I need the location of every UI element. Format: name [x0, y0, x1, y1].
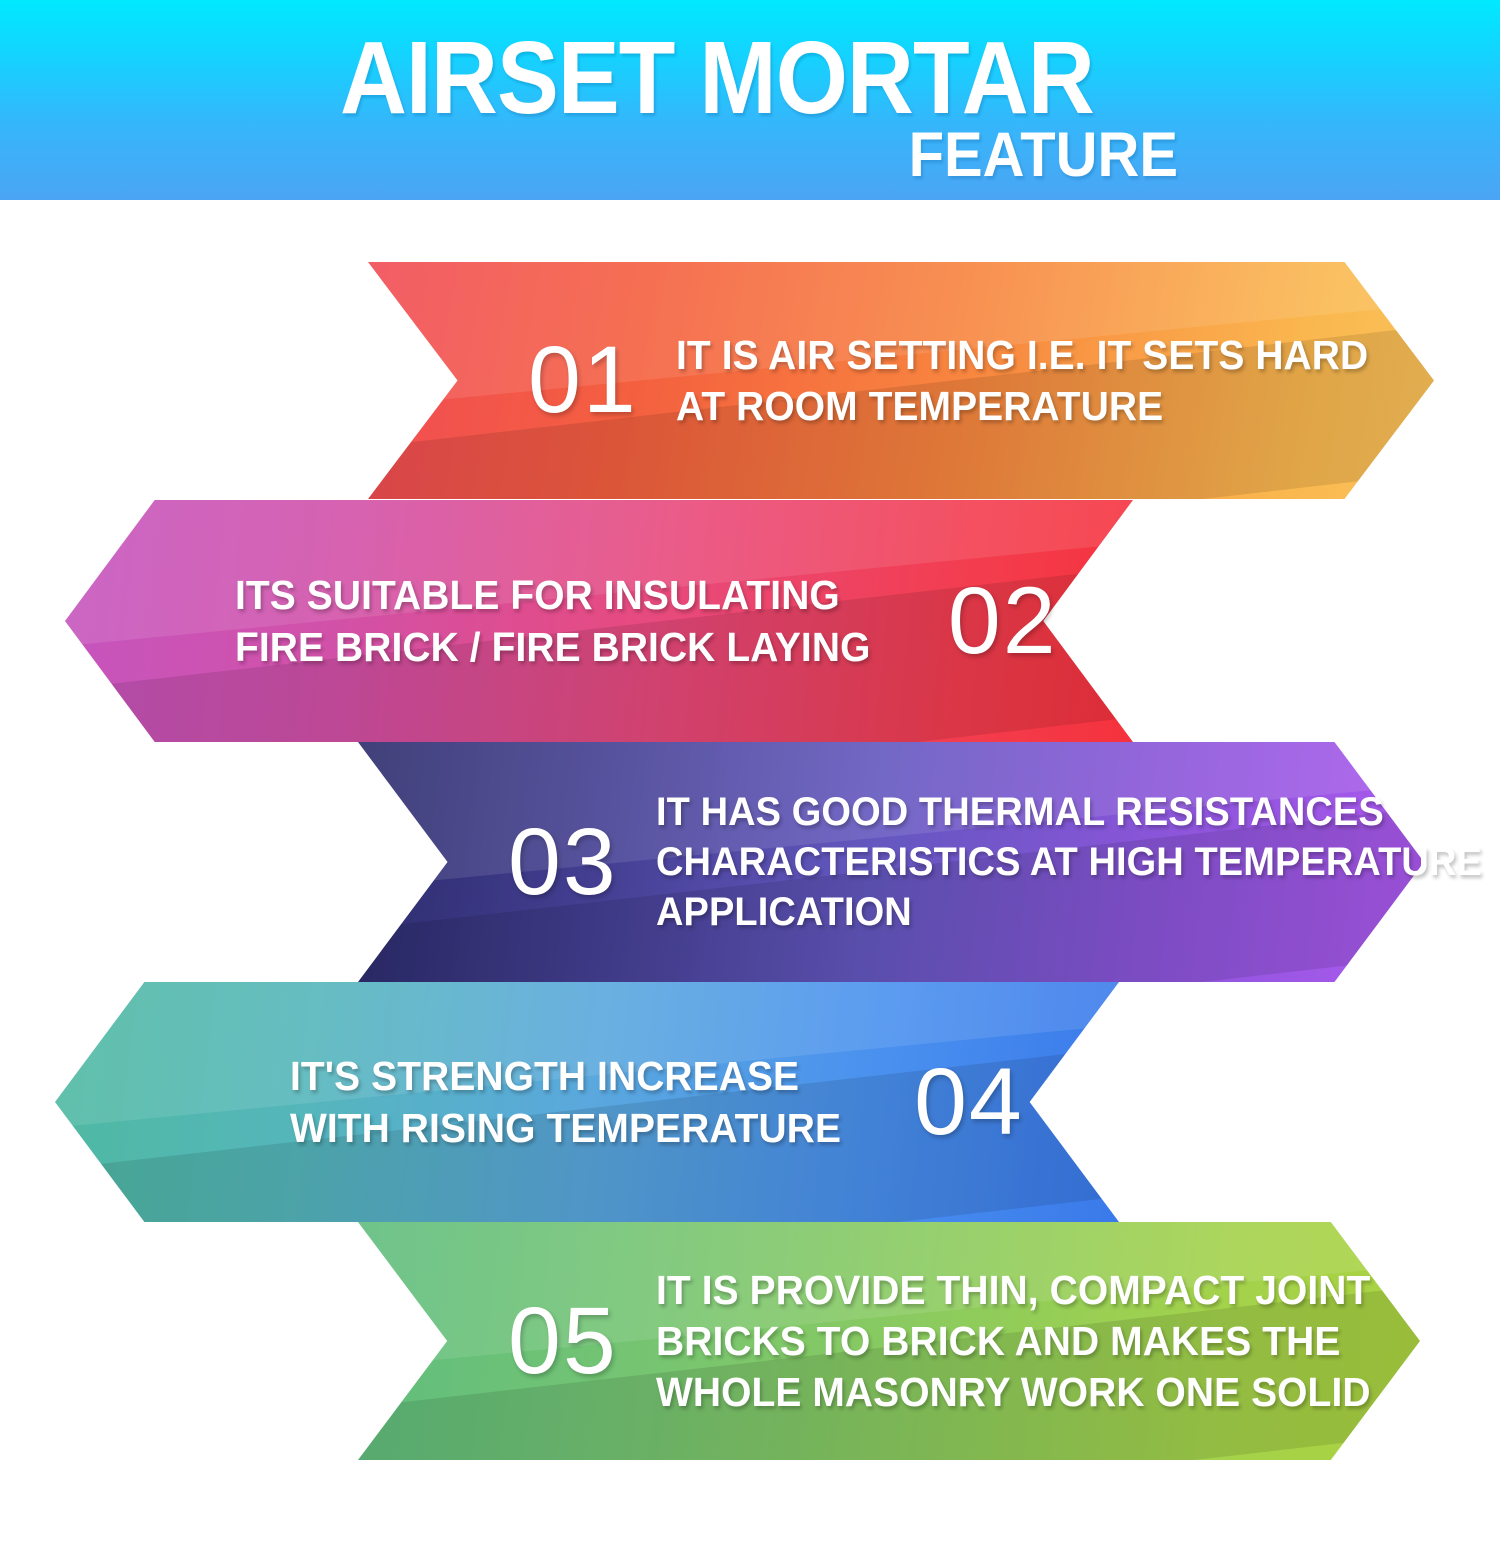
feature-arrow-02: ITS SUITABLE FOR INSULATING FIRE BRICK /…	[65, 500, 1133, 742]
feature-content-05: 05 IT IS PROVIDE THIN, COMPACT JOINT BRI…	[358, 1222, 1420, 1460]
page-title: AIRSET MORTAR	[340, 26, 1096, 129]
feature-text-03: IT HAS GOOD THERMAL RESISTANCES CHARACTE…	[656, 787, 1482, 937]
feature-text-02: ITS SUITABLE FOR INSULATING FIRE BRICK /…	[235, 569, 870, 673]
feature-text-04: IT'S STRENGTH INCREASE WITH RISING TEMPE…	[290, 1050, 841, 1154]
feature-number-04: 04	[914, 1055, 1024, 1150]
header-banner: AIRSET MORTAR FEATURE	[0, 0, 1500, 200]
feature-content-03: 03 IT HAS GOOD THERMAL RESISTANCES CHARA…	[358, 742, 1424, 982]
feature-text-05: IT IS PROVIDE THIN, COMPACT JOINT BRICKS…	[656, 1265, 1371, 1418]
feature-number-02: 02	[948, 574, 1058, 669]
feature-arrow-04: IT'S STRENGTH INCREASE WITH RISING TEMPE…	[55, 982, 1119, 1222]
feature-number-03: 03	[508, 815, 618, 910]
page-subtitle: FEATURE	[407, 124, 1178, 187]
feature-content-01: 01 IT IS AIR SETTING I.E. IT SETS HARD A…	[368, 262, 1434, 499]
feature-arrow-03: 03 IT HAS GOOD THERMAL RESISTANCES CHARA…	[358, 742, 1424, 982]
header-title-block: AIRSET MORTAR FEATURE	[340, 0, 1180, 200]
feature-content-04: IT'S STRENGTH INCREASE WITH RISING TEMPE…	[55, 982, 1119, 1222]
feature-number-01: 01	[528, 333, 638, 428]
feature-text-01: IT IS AIR SETTING I.E. IT SETS HARD AT R…	[676, 330, 1368, 432]
feature-arrow-01: 01 IT IS AIR SETTING I.E. IT SETS HARD A…	[368, 262, 1434, 499]
feature-number-05: 05	[508, 1294, 618, 1389]
feature-arrow-05: 05 IT IS PROVIDE THIN, COMPACT JOINT BRI…	[358, 1222, 1420, 1460]
feature-content-02: ITS SUITABLE FOR INSULATING FIRE BRICK /…	[65, 500, 1133, 742]
